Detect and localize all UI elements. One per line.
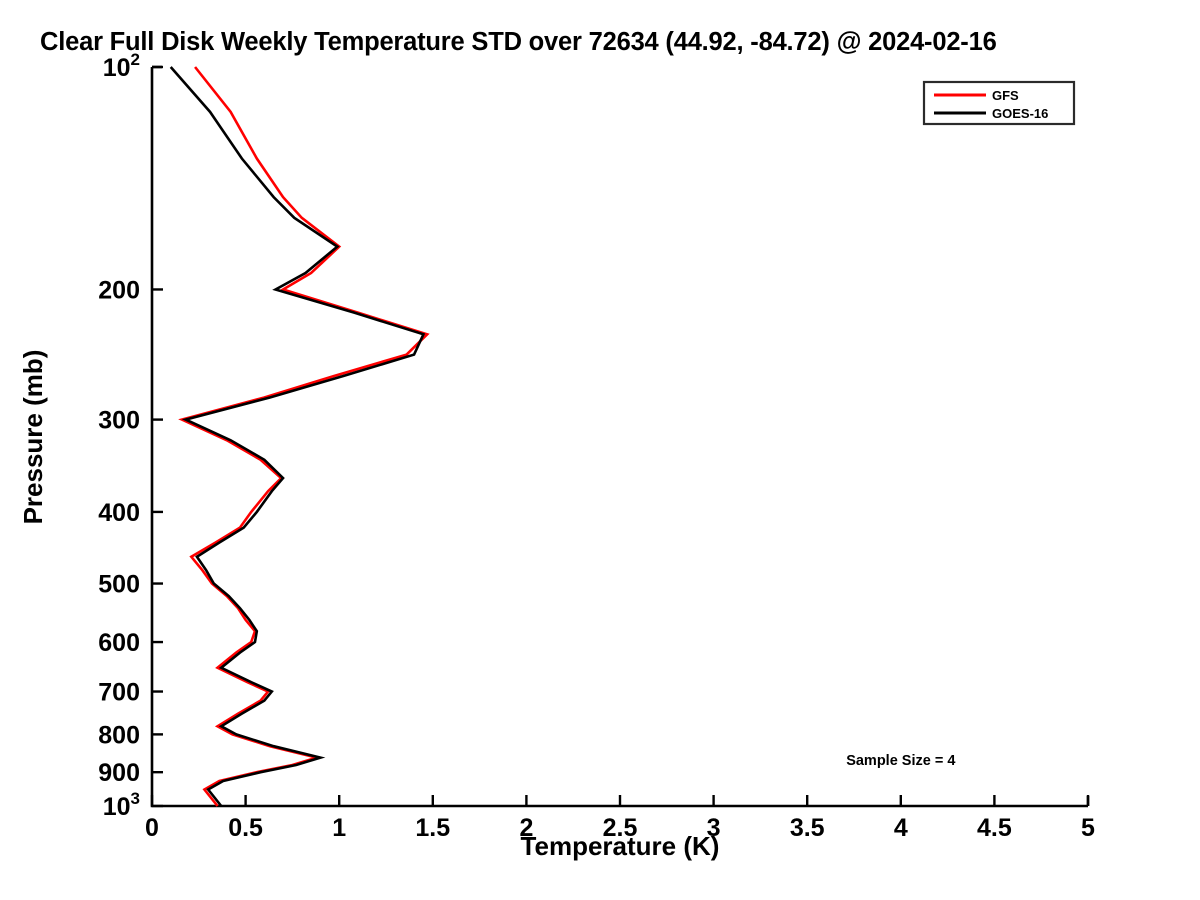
y-tick-label: 700: [98, 679, 140, 707]
x-tick-label: 3.5: [790, 814, 825, 842]
annotation-group: Sample Size = 4: [846, 753, 955, 769]
y-tick-label: 200: [98, 276, 140, 304]
legend-box: GFSGOES-16: [924, 82, 1074, 124]
series-line-gfs: [182, 67, 427, 806]
y-axis-title: Pressure (mb): [18, 350, 48, 525]
y-tick-label: 900: [98, 759, 140, 787]
data-series-group: [171, 67, 427, 806]
x-tick-label: 0: [145, 814, 159, 842]
x-tick-label: 1.5: [415, 814, 450, 842]
x-tick-label: 5: [1081, 814, 1095, 842]
legend-label-goes-16: GOES-16: [992, 106, 1048, 121]
y-tick-label: 102: [103, 50, 140, 82]
y-tick-label: 400: [98, 499, 140, 527]
plot-area: 00.511.522.533.544.55 102200300400500600…: [0, 0, 1200, 900]
x-tick-label: 1: [332, 814, 346, 842]
legend-label-gfs: GFS: [992, 88, 1019, 103]
y-tick-label: 600: [98, 629, 140, 657]
axis-frame: [152, 67, 1088, 806]
x-tick-label: 0.5: [228, 814, 263, 842]
y-tick-label: 500: [98, 571, 140, 599]
x-axis-title: Temperature (K): [521, 831, 720, 861]
figure-canvas: Clear Full Disk Weekly Temperature STD o…: [0, 0, 1200, 900]
y-tick-label: 103: [103, 789, 140, 821]
y-tick-label: 800: [98, 721, 140, 749]
x-tick-label: 4.5: [977, 814, 1012, 842]
series-line-goes-16: [171, 67, 424, 806]
x-tick-label: 4: [894, 814, 908, 842]
sample-size-annotation: Sample Size = 4: [846, 753, 955, 769]
y-tick-label: 300: [98, 407, 140, 435]
